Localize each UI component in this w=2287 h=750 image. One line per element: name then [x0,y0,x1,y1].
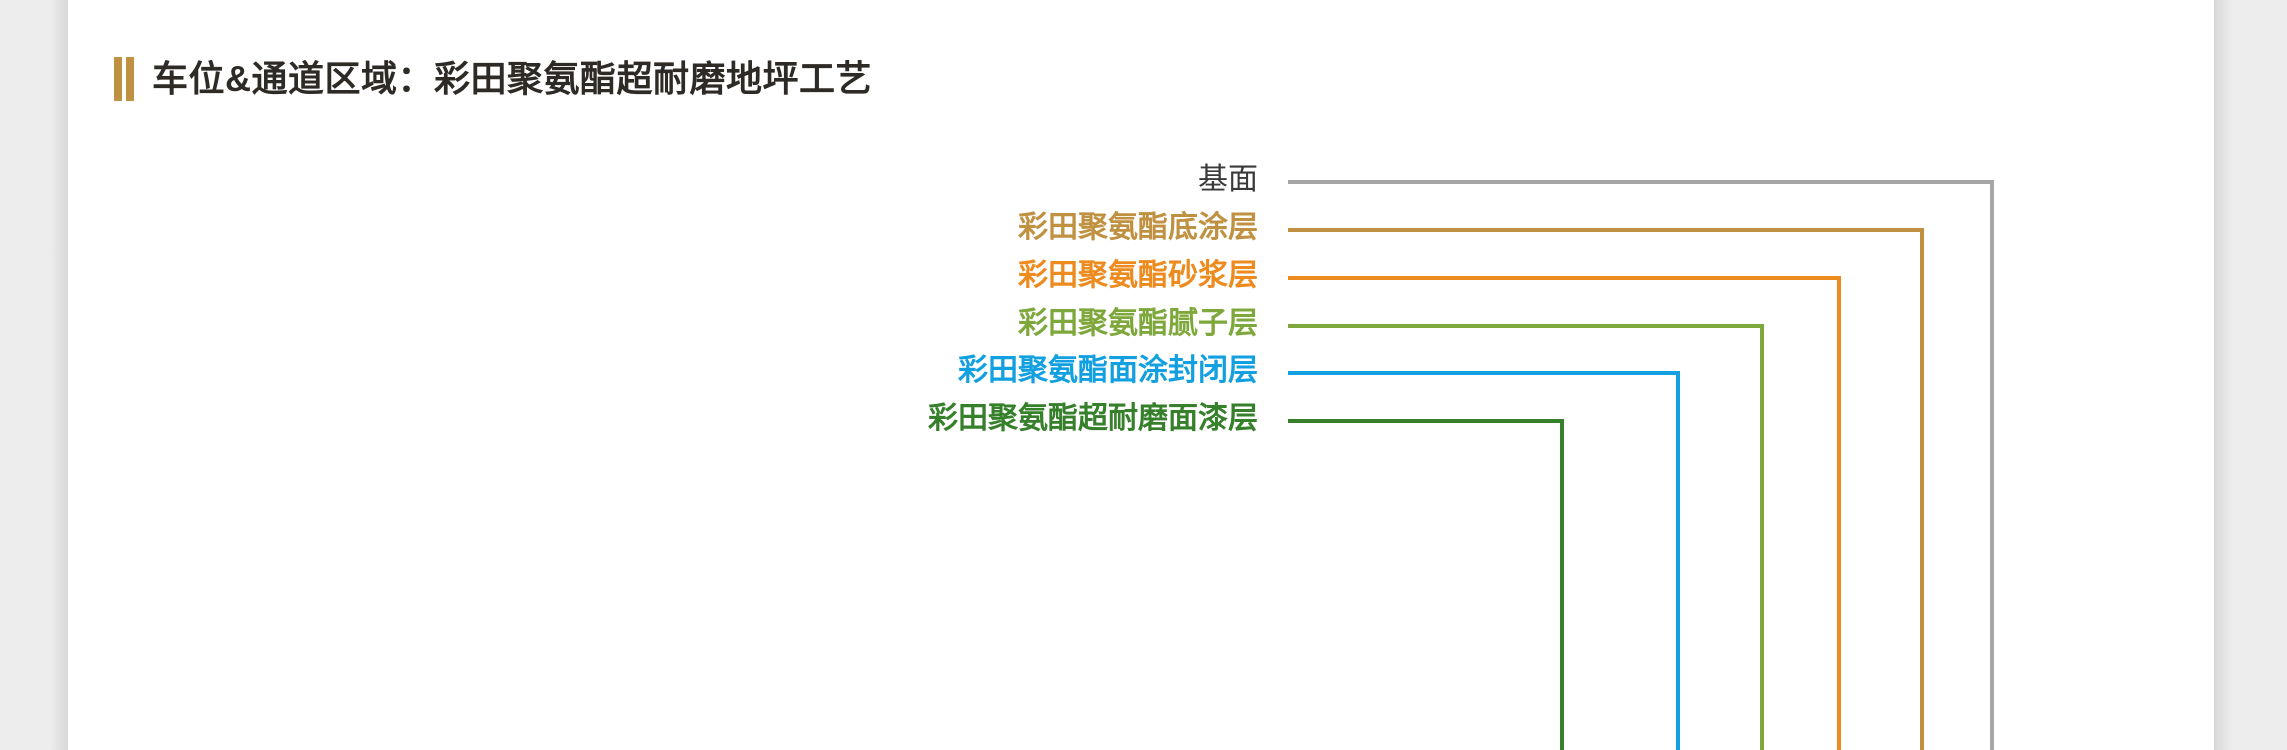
layer-label-2: 彩田聚氨酯底涂层 [1018,213,1258,243]
layer-vertical-line-5 [1676,371,1680,750]
layer-vertical-line-2 [1920,228,1924,750]
layer-label-1: 基面 [1198,165,1258,195]
layer-vertical-line-1 [1990,180,1994,750]
page-shadow-right [2212,0,2232,750]
layer-leader-line-1 [1288,180,1990,184]
slide-viewport: 车位&通道区域：彩田聚氨酯超耐磨地坪工艺 基面彩田聚氨酯底涂层彩田聚氨酯砂浆层彩… [0,0,2287,750]
layer-leader-line-5 [1288,371,1676,375]
slide-page: 车位&通道区域：彩田聚氨酯超耐磨地坪工艺 基面彩田聚氨酯底涂层彩田聚氨酯砂浆层彩… [68,0,2214,750]
layer-vertical-line-4 [1760,324,1764,750]
layer-vertical-line-3 [1837,276,1841,750]
layer-label-6: 彩田聚氨酯超耐磨面漆层 [928,404,1258,434]
layer-label-4: 彩田聚氨酯腻子层 [1018,309,1258,339]
layer-label-5: 彩田聚氨酯面涂封闭层 [958,356,1258,386]
layer-leader-line-6 [1288,419,1560,423]
layer-vertical-line-6 [1560,419,1564,750]
layer-leader-line-3 [1288,276,1837,280]
layer-leader-line-2 [1288,228,1920,232]
layer-label-3: 彩田聚氨酯砂浆层 [1018,261,1258,291]
layer-leader-line-4 [1288,324,1760,328]
layer-diagram: 基面彩田聚氨酯底涂层彩田聚氨酯砂浆层彩田聚氨酯腻子层彩田聚氨酯面涂封闭层彩田聚氨… [68,0,2214,750]
page-shadow-left [50,0,70,750]
